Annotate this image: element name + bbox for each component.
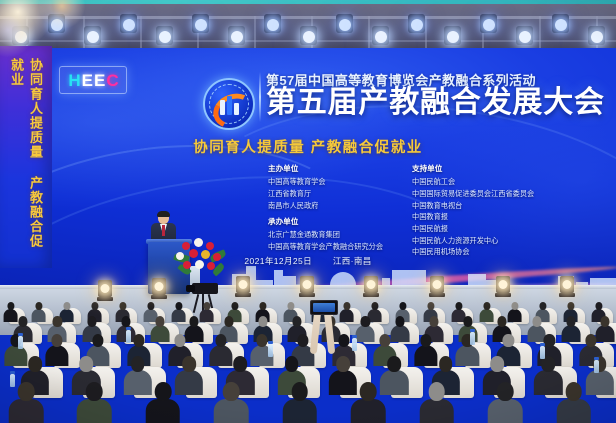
moving-head-light: [516, 26, 533, 45]
organizer-units-block: 承办单位 北京广慧金通教育集团 中国高等教育学会产教融合研究分会: [268, 216, 383, 253]
audience-head: [174, 334, 185, 347]
bottle-body: [540, 346, 545, 359]
audience-head: [53, 316, 62, 327]
light-base: [299, 293, 315, 297]
raised-arm-left: [310, 310, 322, 354]
audience-head: [464, 316, 473, 327]
audience-head: [429, 316, 438, 327]
audience-head: [291, 382, 308, 401]
moving-head-light: [48, 14, 65, 33]
audience-head: [336, 356, 350, 372]
audience-head: [361, 316, 370, 327]
bottle-body: [352, 338, 357, 351]
audience-member: [212, 382, 250, 423]
light-base: [495, 293, 511, 297]
moving-head-light: [336, 14, 353, 33]
audience-head: [297, 334, 308, 347]
audience-head: [215, 334, 226, 347]
host-unit-item: 江西省教育厅: [268, 188, 326, 200]
event-date: 2021年12月25日: [244, 256, 312, 266]
audience-head: [51, 334, 62, 347]
floor-moving-head-light: [430, 276, 444, 293]
audience-head: [601, 316, 610, 327]
audience-member: [75, 382, 113, 423]
audience-shoulders: [488, 399, 523, 423]
moving-head-light: [372, 26, 389, 45]
supporting-unit-item: 中国教育报: [412, 211, 534, 223]
flower-red: [206, 242, 214, 250]
heec-letter-e2: E: [94, 72, 104, 89]
light-base: [559, 293, 575, 297]
host-units-block: 主办单位 中国高等教育学会 江西省教育厅 南昌市人民政府: [268, 163, 326, 211]
audience-head: [439, 356, 453, 372]
emblem-bar-1: [220, 100, 225, 115]
moving-head-light: [480, 14, 497, 33]
audience-head: [190, 316, 199, 327]
audience-head: [360, 382, 377, 401]
audience-head: [544, 334, 555, 347]
audience-member: [486, 382, 524, 423]
date-location-line: 2021年12月25日 江西·南昌: [0, 255, 616, 267]
moving-head-light: [408, 14, 425, 33]
phone-screen: [313, 303, 335, 312]
bottle-body: [594, 360, 599, 373]
floor-moving-head-light: [560, 276, 574, 293]
flower-arrangement: [172, 236, 228, 278]
audience-head: [585, 334, 596, 347]
audience-head: [86, 382, 103, 401]
audience-head: [566, 316, 575, 327]
moving-head-light: [300, 26, 317, 45]
audience-head: [87, 316, 96, 327]
audience-head: [131, 356, 145, 372]
organizer-unit-item: 中国高等教育学会产教融合研究分会: [268, 241, 383, 253]
moving-head-light: [12, 26, 29, 45]
heec-letter-h: H: [68, 72, 79, 89]
camera-body: [192, 283, 218, 294]
host-unit-item: 南昌市人民政府: [268, 200, 326, 212]
truss-beam-upper: [0, 16, 616, 19]
light-base: [363, 293, 379, 297]
audience-shoulders: [351, 399, 386, 423]
camera-lens: [186, 285, 195, 292]
moving-head-light: [192, 14, 209, 33]
audience-head: [28, 356, 42, 372]
bottle-cap: [594, 357, 599, 360]
moving-head-light: [120, 14, 137, 33]
raised-hands-holding-phone: [310, 300, 336, 352]
left-banner-text: 协同育人提质量 产教融合促就业: [7, 58, 45, 258]
heec-round-emblem: [203, 78, 255, 130]
host-unit-item: 中国高等教育学会: [268, 176, 326, 188]
audience-head: [395, 316, 404, 327]
audience-head: [256, 334, 267, 347]
floor-moving-head-light: [152, 278, 166, 295]
supporting-units-block: 支持单位 中国民航工会 中国国际贸易促进委员会江西省委员会 中国教育电视台 中国…: [412, 163, 534, 258]
audience-shoulders: [77, 399, 112, 423]
moving-head-light: [588, 26, 605, 45]
audience-head: [223, 382, 240, 401]
bottle-body: [18, 336, 23, 349]
flower-red: [183, 261, 191, 269]
supporting-unit-item: 中国民航工会: [412, 176, 534, 188]
bottle-body: [268, 344, 273, 357]
moving-head-light: [228, 26, 245, 45]
flower-white: [194, 238, 203, 247]
audience-member: [144, 382, 182, 423]
organizer-unit-item: 北京广慧金通教育集团: [268, 229, 383, 241]
audience-head: [19, 316, 28, 327]
audience-head: [498, 316, 507, 327]
audience-head: [532, 316, 541, 327]
audience-head: [380, 334, 391, 347]
speaker-tie: [162, 225, 165, 236]
bottle-cap: [10, 371, 15, 374]
audience-head: [490, 356, 504, 372]
conference-photo: 协同育人提质量 产教融合促就业 H E E C 第57届中国高等教育博览会产教融…: [0, 0, 616, 423]
event-slogan: 协同育人提质量 产教融合促就业: [0, 136, 616, 157]
supporting-unit-item: 中国教育电视台: [412, 200, 534, 212]
audience-head: [156, 316, 165, 327]
emblem-bar-2: [227, 96, 232, 115]
floor-moving-head-light: [364, 276, 378, 293]
audience-head: [285, 356, 299, 372]
audience-head: [224, 316, 233, 327]
audience-shoulders: [214, 399, 249, 423]
audience-head: [182, 356, 196, 372]
moving-head-light: [444, 26, 461, 45]
audience-head: [293, 316, 302, 327]
heec-letter-c: C: [106, 72, 117, 89]
audience-member: [7, 382, 45, 423]
audience-head: [18, 382, 35, 401]
light-base: [97, 297, 113, 301]
bottle-cap: [470, 329, 475, 332]
bottle-body: [126, 330, 131, 343]
audience-head: [121, 316, 130, 327]
heec-letter-e1: E: [82, 72, 92, 89]
light-base: [151, 295, 167, 299]
floor-moving-head-light: [236, 276, 250, 293]
audience-head: [92, 334, 103, 347]
bottle-body: [10, 374, 15, 387]
floor-moving-head-light: [496, 276, 510, 293]
audience-head: [133, 334, 144, 347]
audience-member: [554, 382, 592, 423]
speaker-hair: [157, 211, 170, 217]
audience-head: [339, 334, 350, 347]
bottle-cap: [126, 327, 131, 330]
host-units-heading: 主办单位: [268, 163, 326, 175]
audience-head: [428, 382, 445, 401]
bottle-cap: [268, 341, 273, 344]
supporting-units-heading: 支持单位: [412, 163, 534, 175]
bottle-cap: [352, 335, 357, 338]
flower-white: [195, 260, 204, 269]
audience-head: [155, 382, 172, 401]
flower-red: [189, 249, 198, 258]
audience-head: [421, 334, 432, 347]
audience-head: [503, 334, 514, 347]
organizer-units-heading: 承办单位: [268, 216, 383, 228]
title-divider: [259, 72, 261, 122]
audience-head: [258, 316, 267, 327]
light-base: [235, 293, 251, 297]
flower-yellow: [201, 250, 210, 259]
event-main-title: 第五届产教融合发展大会: [266, 88, 605, 118]
audience-head: [497, 382, 514, 401]
bottle-cap: [18, 333, 23, 336]
flower-red: [213, 253, 221, 261]
moving-head-light: [552, 14, 569, 33]
left-vertical-banner: 协同育人提质量 产教融合促就业: [0, 46, 52, 268]
audience-head: [79, 356, 93, 372]
raised-arm-right: [324, 310, 336, 354]
audience-head: [565, 382, 582, 401]
light-base: [429, 293, 445, 297]
moving-head-light: [156, 26, 173, 45]
audience-member: [417, 382, 455, 423]
smartphone: [310, 300, 338, 315]
audience-shoulders: [282, 399, 317, 423]
audience-member: [349, 382, 387, 423]
supporting-unit-item: 中国国际贸易促进委员会江西省委员会: [412, 188, 534, 200]
floor-moving-head-light: [300, 276, 314, 293]
audience-shoulders: [556, 399, 591, 423]
supporting-unit-item: 中国民航人力资源开发中心: [412, 235, 534, 247]
audience-shoulders: [419, 399, 454, 423]
flower-red: [207, 262, 215, 270]
seated-audience: [0, 300, 616, 423]
audience-head: [233, 356, 247, 372]
moving-head-light: [84, 26, 101, 45]
bottle-body: [470, 332, 475, 345]
audience-shoulders: [146, 399, 181, 423]
event-place: 江西·南昌: [333, 256, 372, 266]
audience-shoulders: [9, 399, 44, 423]
flower-red: [182, 242, 190, 250]
emblem-bar-3: [234, 103, 239, 115]
bottle-cap: [540, 343, 545, 346]
moving-head-light: [264, 14, 281, 33]
flower-white: [176, 252, 184, 260]
audience-member: [281, 382, 319, 423]
heec-logo: H E E C: [59, 66, 127, 94]
supporting-unit-item: 中国民航报: [412, 223, 534, 235]
floor-moving-head-light: [98, 280, 112, 297]
audience-head: [387, 356, 401, 372]
